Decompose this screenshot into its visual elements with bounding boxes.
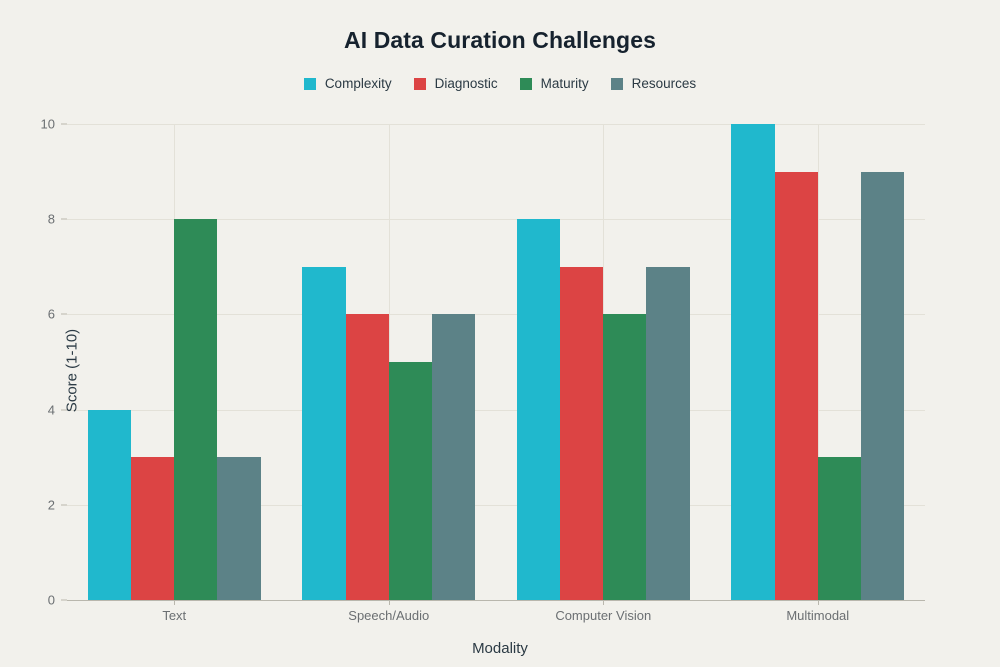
y-tick-label: 2 [48,497,55,512]
y-tick-label: 10 [41,117,55,132]
legend-swatch-icon [611,78,623,90]
legend-item-resources[interactable]: Resources [611,76,697,91]
bar-computer-vision-resources[interactable] [646,267,689,600]
bar-speech-audio-maturity[interactable] [389,362,432,600]
chart-legend: ComplexityDiagnosticMaturityResources [0,76,1000,91]
bar-computer-vision-complexity[interactable] [517,219,560,600]
bar-speech-audio-resources[interactable] [432,314,475,600]
chart-figure: AI Data Curation Challenges ComplexityDi… [0,0,1000,667]
bar-text-complexity[interactable] [88,410,131,600]
x-tick-mark [174,600,175,605]
x-tick-mark [603,600,604,605]
legend-swatch-icon [304,78,316,90]
legend-swatch-icon [414,78,426,90]
bar-multimodal-maturity[interactable] [818,457,861,600]
x-axis-line [67,600,925,601]
bar-multimodal-diagnostic[interactable] [775,172,818,600]
bar-speech-audio-complexity[interactable] [302,267,345,600]
x-tick-label: Speech/Audio [348,608,429,623]
bar-computer-vision-maturity[interactable] [603,314,646,600]
bar-multimodal-resources[interactable] [861,172,904,600]
x-tick-mark [389,600,390,605]
chart-title: AI Data Curation Challenges [0,27,1000,54]
y-tick-label: 8 [48,212,55,227]
y-axis-ticks: 0246810 [0,124,67,600]
legend-swatch-icon [520,78,532,90]
x-tick-label: Multimodal [786,608,849,623]
x-tick-mark [818,600,819,605]
legend-item-label: Complexity [325,76,392,91]
legend-item-complexity[interactable]: Complexity [304,76,392,91]
x-tick-label: Computer Vision [555,608,651,623]
bar-text-maturity[interactable] [174,219,217,600]
legend-item-label: Maturity [541,76,589,91]
bar-multimodal-complexity[interactable] [731,124,774,600]
legend-item-label: Diagnostic [435,76,498,91]
x-tick-label: Text [162,608,186,623]
gridline-horizontal [67,124,925,125]
legend-item-maturity[interactable]: Maturity [520,76,589,91]
x-axis-title: Modality [0,640,1000,657]
legend-item-label: Resources [632,76,697,91]
y-tick-label: 6 [48,307,55,322]
bar-text-diagnostic[interactable] [131,457,174,600]
y-axis-title: Score (1-10) [64,291,81,451]
y-tick-label: 4 [48,402,55,417]
plot-area [67,124,925,600]
bar-speech-audio-diagnostic[interactable] [346,314,389,600]
y-tick-label: 0 [48,593,55,608]
bar-computer-vision-diagnostic[interactable] [560,267,603,600]
bar-text-resources[interactable] [217,457,260,600]
legend-item-diagnostic[interactable]: Diagnostic [414,76,498,91]
